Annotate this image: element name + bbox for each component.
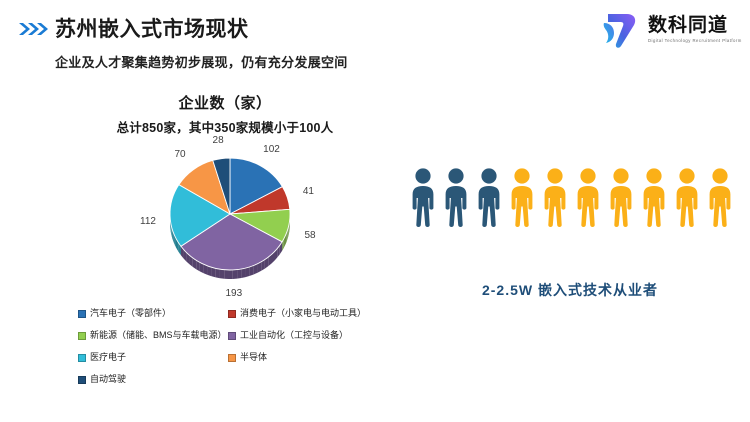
legend-item-0[interactable]: 汽车电子（零部件）	[78, 308, 228, 319]
pie-data-label-1: 41	[296, 186, 320, 197]
person-icon-4	[540, 167, 570, 229]
pie-chart: 102 41 58 193 112 70 28	[60, 140, 390, 300]
pie-data-label-6: 28	[206, 135, 230, 146]
legend-item-5[interactable]: 半导体	[228, 352, 390, 363]
legend-swatch-icon	[78, 354, 86, 362]
person-icon-9	[705, 167, 735, 229]
legend-label: 自动驾驶	[90, 374, 126, 385]
legend-swatch-icon	[78, 310, 86, 318]
person-icon-2	[474, 167, 504, 229]
legend-swatch-icon	[228, 310, 236, 318]
legend-swatch-icon	[78, 376, 86, 384]
person-icon-6	[606, 167, 636, 229]
brand-text: 数科同道 Digital Technology Recruitment Plat…	[648, 15, 740, 45]
legend-item-3[interactable]: 工业自动化（工控与设备）	[228, 330, 390, 341]
brand-logo: 数科同道 Digital Technology Recruitment Plat…	[601, 8, 740, 52]
legend-label: 半导体	[240, 352, 267, 363]
person-icon-3	[507, 167, 537, 229]
pie-data-label-2: 58	[298, 230, 322, 241]
slide-header: 苏州嵌入式市场现状 企业及人才聚集趋势初步展现，仍有充分发展空间	[0, 0, 750, 80]
legend-label: 医疗电子	[90, 352, 126, 363]
pie-data-label-5: 70	[168, 149, 192, 160]
legend-swatch-icon	[228, 332, 236, 340]
legend-item-4[interactable]: 医疗电子	[78, 352, 228, 363]
legend-swatch-icon	[228, 354, 236, 362]
person-icon-7	[639, 167, 669, 229]
legend-swatch-icon	[78, 332, 86, 340]
pie-data-label-4: 112	[136, 216, 160, 227]
chart-subtitle: 总计850家，其中350家规模小于100人	[60, 117, 390, 136]
person-icon-1	[441, 167, 471, 229]
legend-label: 新能源（储能、BMS与车载电源）	[90, 330, 227, 341]
chart-title: 企业数（家）	[60, 92, 390, 113]
chart-legend: 汽车电子（零部件）消费电子（小家电与电动工具）新能源（储能、BMS与车载电源）工…	[78, 308, 390, 385]
legend-item-2[interactable]: 新能源（储能、BMS与车载电源）	[78, 330, 228, 341]
person-icon-8	[672, 167, 702, 229]
brand-tagline: Digital Technology Recruitment Platform	[648, 37, 742, 45]
brand-name: 数科同道	[648, 15, 740, 37]
legend-label: 工业自动化（工控与设备）	[240, 330, 348, 341]
page-title: 苏州嵌入式市场现状	[55, 16, 249, 44]
legend-label: 消费电子（小家电与电动工具）	[240, 308, 366, 319]
person-icon-5	[573, 167, 603, 229]
pie-data-label-3: 193	[222, 288, 246, 299]
person-icon-0	[408, 167, 438, 229]
datong-logo-mark-icon	[601, 10, 641, 50]
people-icon-row	[408, 167, 735, 229]
legend-item-1[interactable]: 消费电子（小家电与电动工具）	[228, 308, 390, 319]
pie-data-label-0: 102	[259, 144, 283, 155]
legend-label: 汽车电子（零部件）	[90, 308, 171, 319]
workforce-pictogram: 2-2.5W 嵌入式技术从业者	[400, 155, 740, 315]
enterprise-count-chart: 企业数（家） 总计850家，其中350家规模小于100人 102 41 58 1…	[60, 92, 390, 392]
workforce-caption: 2-2.5W 嵌入式技术从业者	[400, 280, 740, 300]
legend-item-6[interactable]: 自动驾驶	[78, 374, 228, 385]
page-subtitle: 企业及人才聚集趋势初步展现，仍有充分发展空间	[55, 52, 348, 71]
triple-chevron-right-icon	[19, 20, 51, 42]
